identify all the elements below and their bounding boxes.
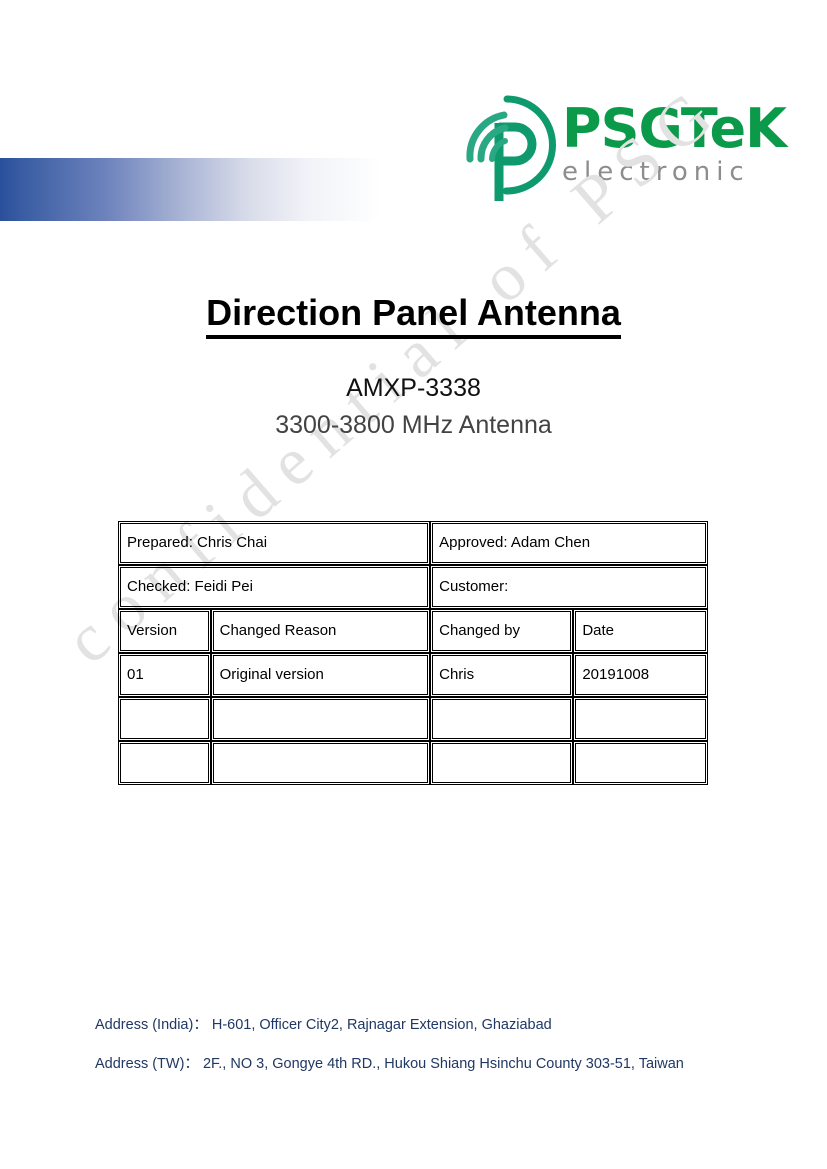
column-header-date: Date (573, 609, 708, 653)
cell-changed-by (430, 697, 573, 741)
psgtek-signal-p-icon (452, 93, 562, 205)
revision-info-table: Prepared: Chris Chai Approved: Adam Chen… (118, 521, 708, 785)
cell-version: 01 (118, 653, 211, 697)
cell-version (118, 741, 211, 785)
page-title: Direction Panel Antenna (0, 292, 827, 334)
page-title-text: Direction Panel Antenna (206, 292, 621, 339)
logo-brand-text: PSGTeK (562, 103, 802, 156)
cell-changed-reason (211, 697, 431, 741)
cell-date (573, 697, 708, 741)
cell-changed-by: Chris (430, 653, 573, 697)
column-header-changed-reason: Changed Reason (211, 609, 431, 653)
prepared-cell: Prepared: Chris Chai (118, 521, 430, 565)
footer: Address (India)： H-601, Officer City2, R… (95, 1018, 795, 1095)
checked-cell: Checked: Feidi Pei (118, 565, 430, 609)
table-row (118, 697, 708, 741)
company-logo: PSGTeK eLeCTRONIC (452, 93, 802, 205)
footer-address-india: Address (India)： H-601, Officer City2, R… (95, 1018, 795, 1033)
logo-wordmark: PSGTeK eLeCTRONIC (562, 103, 802, 188)
cell-date: 20191008 (573, 653, 708, 697)
column-header-version: Version (118, 609, 211, 653)
logo-tagline-text: eLeCTRONIC (562, 156, 802, 189)
footer-address-tw: Address (TW)： 2F., NO 3, Gongye 4th RD.,… (95, 1057, 795, 1072)
column-header-changed-by: Changed by (430, 609, 573, 653)
table-row: 01 Original version Chris 20191008 (118, 653, 708, 697)
cell-changed-reason: Original version (211, 653, 431, 697)
cell-changed-by (430, 741, 573, 785)
table-row-prepared: Prepared: Chris Chai Approved: Adam Chen (118, 521, 708, 565)
frequency-range: 3300-3800 MHz Antenna (0, 411, 827, 440)
table-row (118, 741, 708, 785)
table-row-checked: Checked: Feidi Pei Customer: (118, 565, 708, 609)
header-gradient-band (0, 158, 381, 221)
cell-changed-reason (211, 741, 431, 785)
cell-version (118, 697, 211, 741)
approved-cell: Approved: Adam Chen (430, 521, 708, 565)
model-number: AMXP-3338 (0, 374, 827, 403)
customer-cell: Customer: (430, 565, 708, 609)
table-header-row: Version Changed Reason Changed by Date (118, 609, 708, 653)
cell-date (573, 741, 708, 785)
